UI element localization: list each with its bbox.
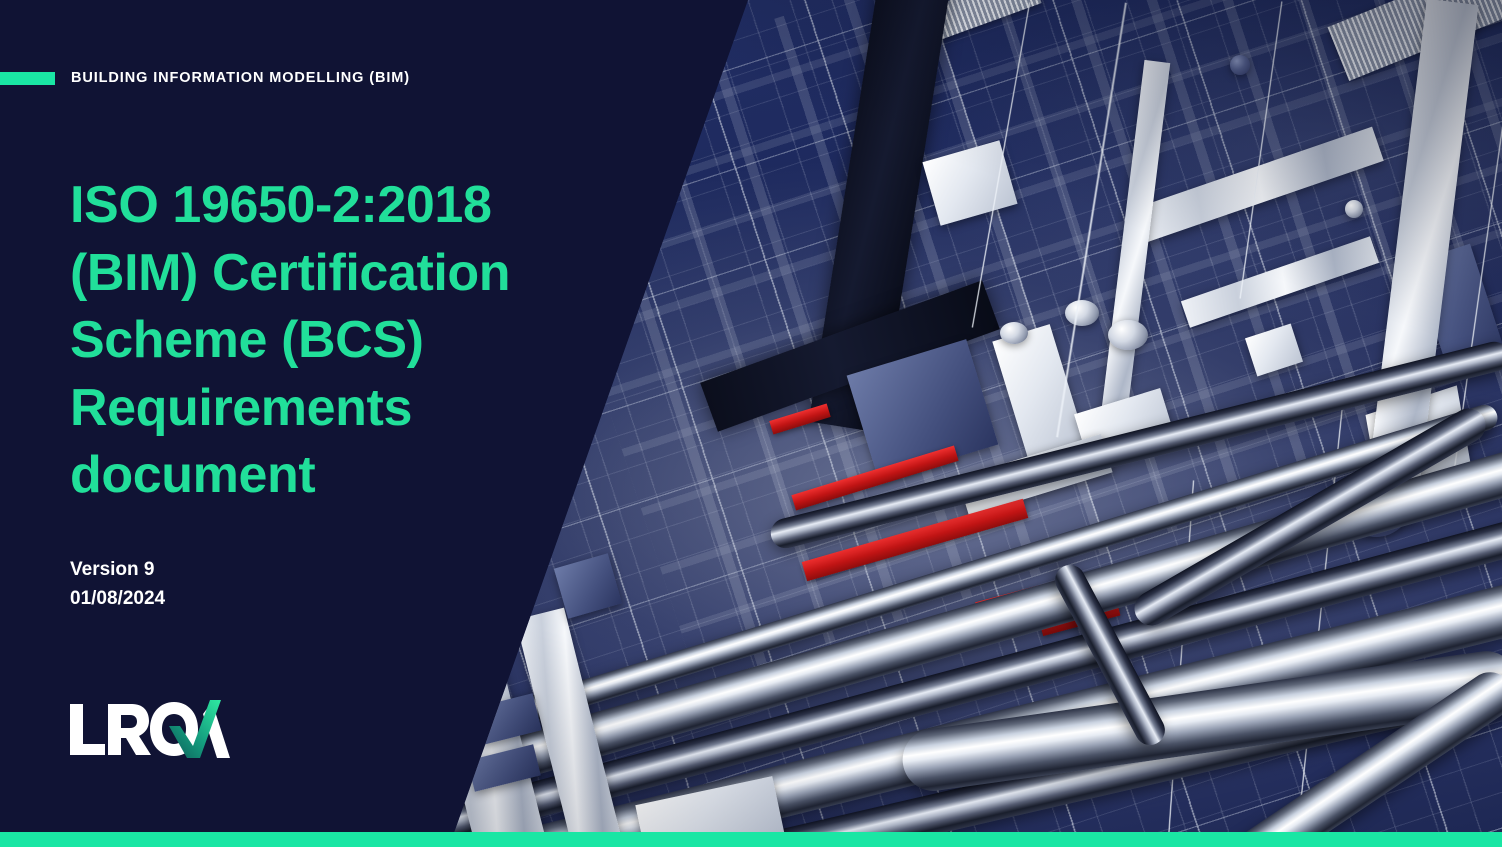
round-fitting (1108, 320, 1148, 350)
green-accent-bar (0, 72, 55, 85)
page-title: ISO 19650-2:2018 (BIM) Certification Sch… (70, 172, 540, 510)
round-fitting (1065, 300, 1099, 326)
lrqa-logo (70, 700, 230, 762)
cover-content: BUILDING INFORMATION MODELLING (BIM) ISO… (0, 0, 700, 847)
round-fitting (1000, 322, 1028, 344)
version-label: Version 9 (70, 556, 165, 585)
green-footer-bar (0, 832, 1502, 847)
version-block: Version 9 01/08/2024 (70, 556, 165, 614)
eyebrow-row: BUILDING INFORMATION MODELLING (BIM) (0, 70, 410, 86)
round-fitting (1345, 200, 1363, 218)
eyebrow-label: BUILDING INFORMATION MODELLING (BIM) (71, 70, 410, 86)
lrqa-logo-mark (70, 700, 230, 762)
round-fitting-blue (1230, 55, 1250, 75)
version-date: 01/08/2024 (70, 585, 165, 614)
cover-slide: BUILDING INFORMATION MODELLING (BIM) ISO… (0, 0, 1502, 847)
